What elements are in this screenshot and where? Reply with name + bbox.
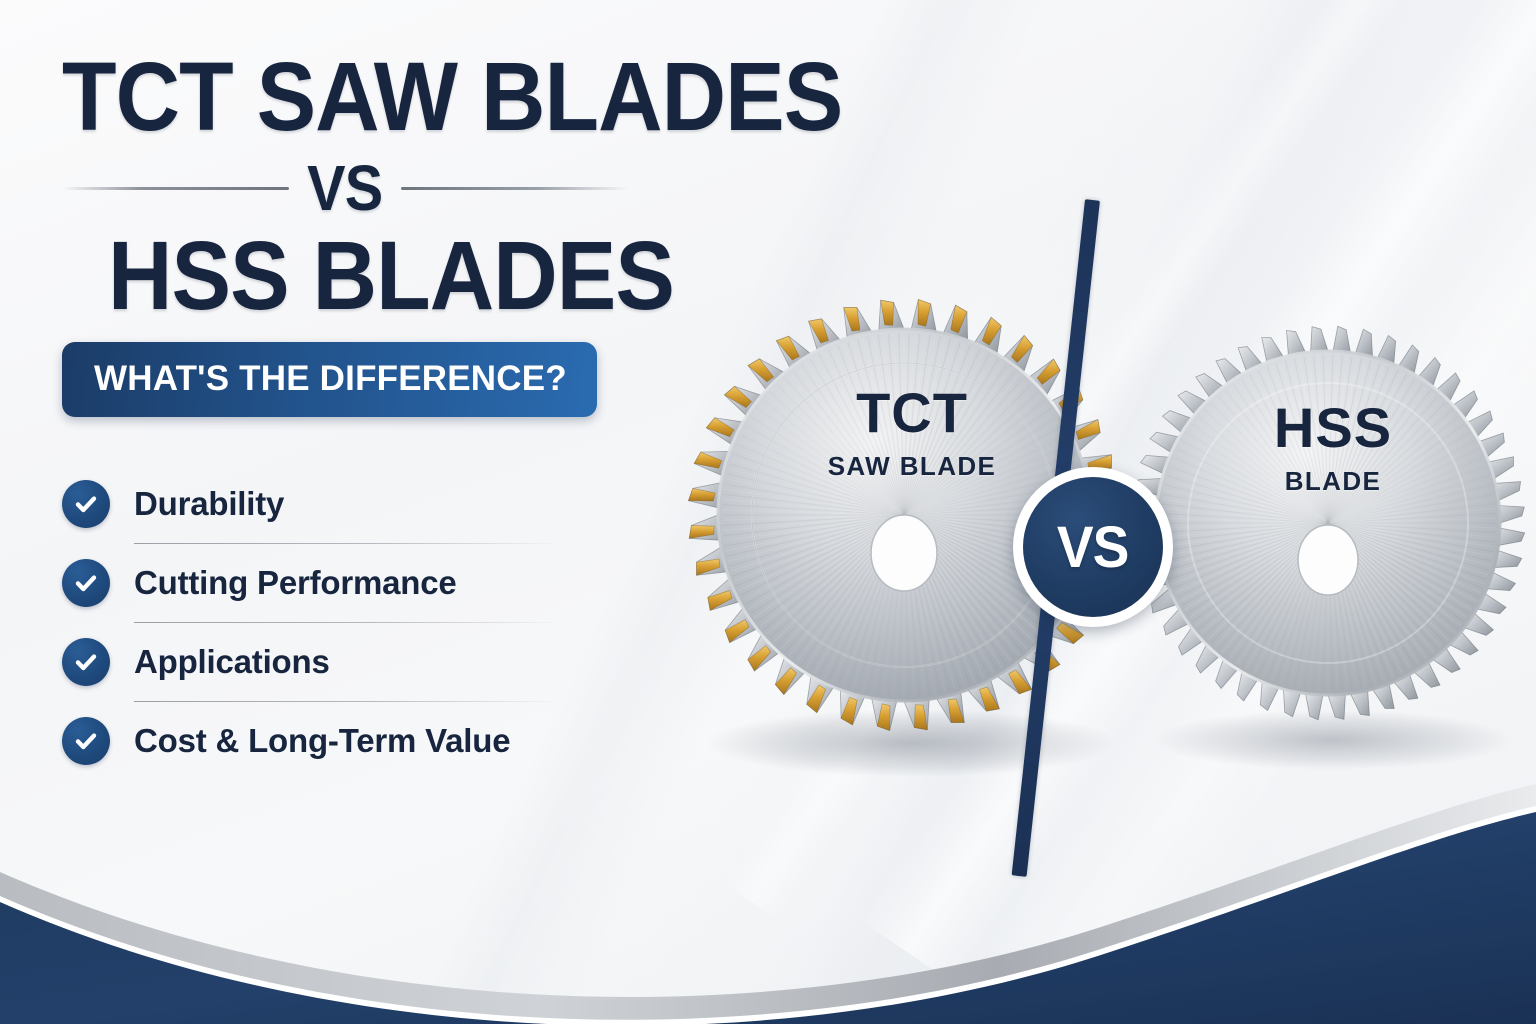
infographic-canvas: TCT SAW BLADES VS HSS BLADES WHAT'S THE … — [0, 0, 1536, 1024]
hss-brushed-texture — [1152, 347, 1504, 699]
difference-badge: WHAT'S THE DIFFERENCE? — [62, 342, 597, 417]
vs-badge: VS — [1013, 467, 1173, 627]
list-item[interactable]: Applications — [62, 623, 562, 701]
list-item-label: Cost & Long-Term Value — [134, 722, 510, 760]
feature-checklist: Durability Cutting Performance Applicati… — [62, 465, 562, 780]
page-title-line-1: TCT SAW BLADES — [62, 52, 651, 141]
vs-badge-inner: VS — [1023, 477, 1163, 617]
hss-blade-shadow — [1153, 710, 1513, 770]
list-item-label: Durability — [134, 485, 284, 523]
check-icon — [62, 638, 110, 686]
bottom-wave-decoration — [0, 784, 1536, 1024]
divider-rule-left — [62, 187, 289, 190]
divider-rule-right — [401, 187, 628, 190]
check-icon — [62, 480, 110, 528]
list-item-label: Cutting Performance — [134, 564, 457, 602]
title-vs-label: VS — [307, 151, 382, 225]
list-item[interactable]: Cost & Long-Term Value — [62, 702, 562, 780]
list-item[interactable]: Durability — [62, 465, 562, 543]
list-item[interactable]: Cutting Performance — [62, 544, 562, 622]
page-title-line-2: HSS BLADES — [62, 231, 651, 320]
vs-badge-label: VS — [1057, 514, 1129, 581]
tct-arbor-hole — [871, 515, 937, 591]
hss-blade-graphic: HSS BLADE — [1128, 288, 1536, 788]
title-vs-separator: VS — [62, 151, 628, 225]
list-item-label: Applications — [134, 643, 330, 681]
check-icon — [62, 717, 110, 765]
check-icon — [62, 559, 110, 607]
hss-arbor-hole — [1298, 525, 1358, 595]
headline-column: TCT SAW BLADES VS HSS BLADES WHAT'S THE … — [62, 52, 702, 780]
